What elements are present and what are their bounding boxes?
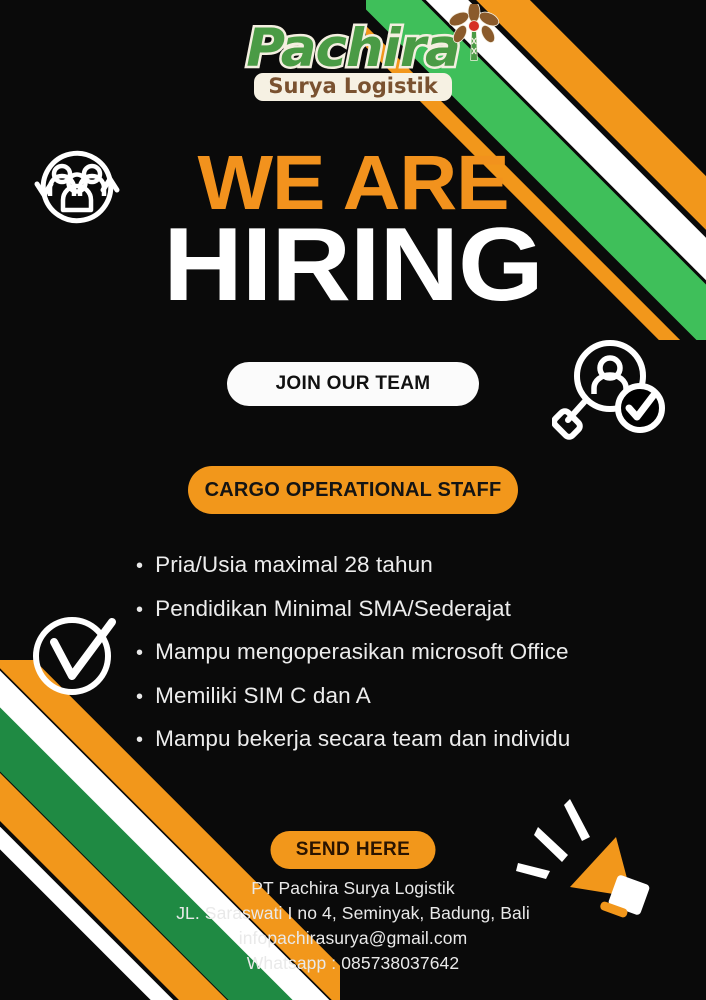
send-here-button[interactable]: SEND HERE [271,831,436,869]
team-group-icon [22,134,132,240]
logo-wordmark: Pachira [246,22,459,76]
list-item: • Memiliki SIM C dan A [136,683,656,710]
bullet-icon: • [136,643,143,663]
requirement-text: Memiliki SIM C dan A [155,683,371,710]
palm-tree-icon [442,4,506,62]
megaphone-icon [508,793,654,925]
position-badge: CARGO OPERATIONAL STAFF [188,466,518,514]
list-item: • Pendidikan Minimal SMA/Sederajat [136,596,656,623]
join-our-team-button[interactable]: JOIN OUR TEAM [227,362,479,406]
requirement-text: Pendidikan Minimal SMA/Sederajat [155,596,511,623]
contact-email[interactable]: infopachirasurya@gmail.com [0,926,706,951]
requirement-text: Mampu bekerja secara team dan individu [155,726,570,753]
bullet-icon: • [136,730,143,750]
list-item: • Pria/Usia maximal 28 tahun [136,552,656,579]
bullet-icon: • [136,600,143,620]
list-item: • Mampu bekerja secara team dan individu [136,726,656,753]
check-circle-icon [24,604,124,704]
company-logo: Pachira Surya Logistik [0,22,706,101]
requirement-text: Mampu mengoperasikan microsoft Office [155,639,568,666]
bullet-icon: • [136,556,143,576]
requirement-text: Pria/Usia maximal 28 tahun [155,552,433,579]
candidate-search-icon [552,332,668,444]
requirements-list: • Pria/Usia maximal 28 tahun • Pendidika… [136,552,656,770]
contact-whatsapp[interactable]: Whatsapp : 085738037642 [0,951,706,976]
logo-name: Pachira [246,18,459,79]
list-item: • Mampu mengoperasikan microsoft Office [136,639,656,666]
bullet-icon: • [136,687,143,707]
